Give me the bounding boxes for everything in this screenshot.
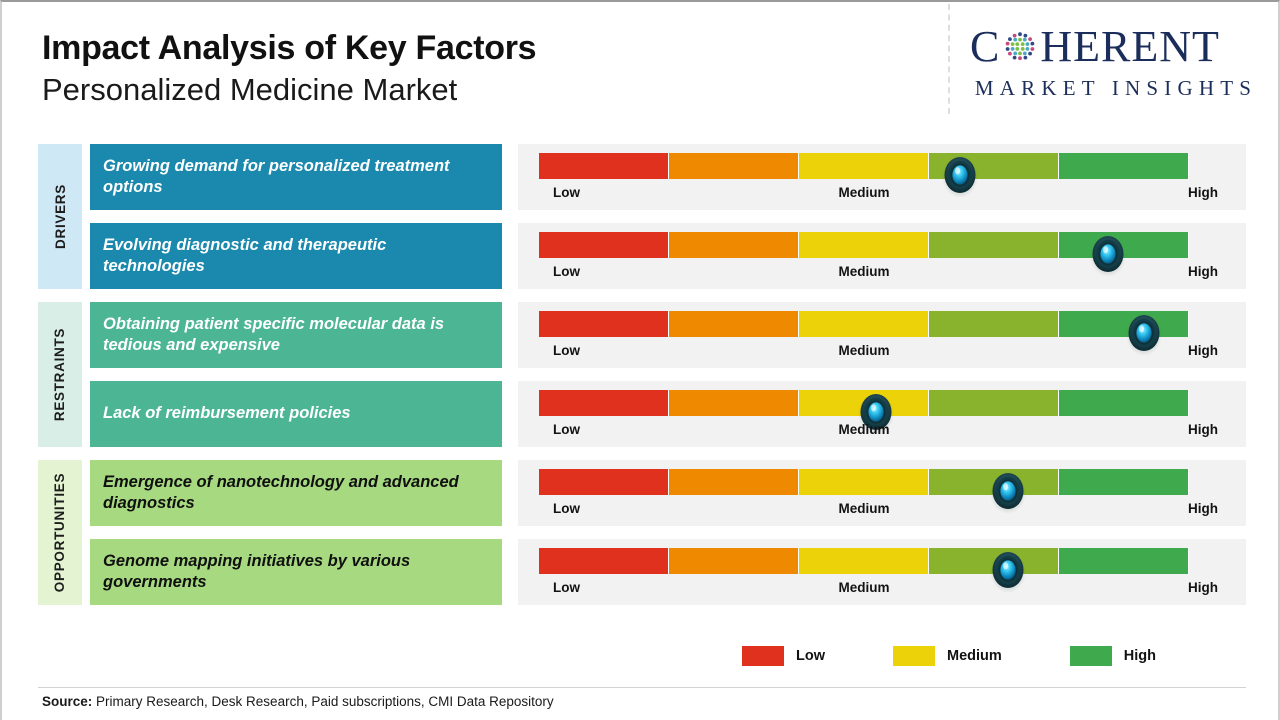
gauge-bar [539, 153, 1189, 179]
factor-label: Growing demand for personalized treatmen… [103, 156, 490, 199]
gauge-segment-4 [929, 153, 1059, 179]
impact-gauge: Low Medium High [518, 460, 1246, 526]
factor-label: Genome mapping initiatives by various go… [103, 551, 490, 594]
page-subtitle: Personalized Medicine Market [42, 73, 662, 108]
impact-matrix: DRIVERS RESTRAINTS OPPORTUNITIES Growing… [2, 144, 1280, 618]
scale-label-medium: Medium [838, 580, 889, 595]
factor-box[interactable]: Growing demand for personalized treatmen… [90, 144, 502, 210]
scale-label-high: High [1188, 422, 1218, 437]
matrix-row: Growing demand for personalized treatmen… [2, 144, 1280, 210]
gauge-segment-3 [799, 311, 929, 337]
globe-dots-icon [1001, 28, 1039, 66]
logo-letters-herent: HERENT [1040, 25, 1220, 69]
gauge-scale: Low Medium High [539, 264, 1189, 286]
header-divider [948, 4, 950, 114]
scale-label-high: High [1188, 580, 1218, 595]
scale-label-medium: Medium [838, 422, 889, 437]
header: Impact Analysis of Key Factors Personali… [42, 30, 662, 107]
scale-label-medium: Medium [838, 343, 889, 358]
gauge-segment-5 [1059, 390, 1189, 416]
gauge-bar [539, 390, 1189, 416]
legend-swatch-low [742, 646, 784, 666]
gauge-segment-1 [539, 311, 669, 337]
impact-gauge: Low Medium High [518, 381, 1246, 447]
gauge-segment-5 [1059, 469, 1189, 495]
gauge-segment-5 [1059, 153, 1189, 179]
logo-tagline: MARKET INSIGHTS [970, 76, 1262, 101]
gauge-segment-4 [929, 232, 1059, 258]
legend-item-low: Low [742, 646, 825, 666]
matrix-row: Evolving diagnostic and therapeutic tech… [2, 223, 1280, 289]
factor-box[interactable]: Genome mapping initiatives by various go… [90, 539, 502, 605]
scale-label-high: High [1188, 185, 1218, 200]
gauge-segment-2 [669, 232, 799, 258]
scale-label-low: Low [553, 264, 580, 279]
gauge-segment-4 [929, 548, 1059, 574]
factor-box[interactable]: Obtaining patient specific molecular dat… [90, 302, 502, 368]
scale-label-low: Low [553, 580, 580, 595]
legend-item-high: High [1070, 646, 1156, 666]
scale-label-high: High [1188, 343, 1218, 358]
impact-gauge: Low Medium High [518, 223, 1246, 289]
gauge-bar [539, 548, 1189, 574]
scale-label-medium: Medium [838, 185, 889, 200]
impact-gauge: Low Medium High [518, 302, 1246, 368]
scale-label-high: High [1188, 264, 1218, 279]
gauge-segment-3 [799, 390, 929, 416]
legend-label-high: High [1124, 648, 1156, 664]
gauge-segment-4 [929, 311, 1059, 337]
factor-box[interactable]: Emergence of nanotechnology and advanced… [90, 460, 502, 526]
brand-logo: C [970, 24, 1266, 101]
impact-gauge: Low Medium High [518, 144, 1246, 210]
gauge-scale: Low Medium High [539, 422, 1189, 444]
gauge-segment-1 [539, 153, 669, 179]
legend-item-medium: Medium [893, 646, 1002, 666]
scale-label-low: Low [553, 501, 580, 516]
source-label: Source: [42, 694, 92, 709]
page-title: Impact Analysis of Key Factors [42, 30, 662, 67]
slide-frame: Impact Analysis of Key Factors Personali… [0, 0, 1280, 720]
scale-label-medium: Medium [838, 264, 889, 279]
gauge-bar [539, 232, 1189, 258]
gauge-scale: Low Medium High [539, 185, 1189, 207]
gauge-segment-1 [539, 548, 669, 574]
factor-box[interactable]: Lack of reimbursement policies [90, 381, 502, 447]
legend-label-medium: Medium [947, 648, 1002, 664]
scale-label-high: High [1188, 501, 1218, 516]
gauge-segment-3 [799, 469, 929, 495]
logo-wordmark: C [970, 24, 1266, 70]
gauge-segment-3 [799, 153, 929, 179]
gauge-segment-1 [539, 232, 669, 258]
legend-swatch-medium [893, 646, 935, 666]
gauge-bar [539, 469, 1189, 495]
gauge-segment-2 [669, 548, 799, 574]
gauge-segment-5 [1059, 548, 1189, 574]
gauge-segment-2 [669, 469, 799, 495]
gauge-segment-2 [669, 311, 799, 337]
factor-label: Obtaining patient specific molecular dat… [103, 314, 490, 357]
legend: Low Medium High [742, 646, 1202, 666]
scale-label-low: Low [553, 422, 580, 437]
gauge-segment-3 [799, 232, 929, 258]
impact-gauge: Low Medium High [518, 539, 1246, 605]
scale-label-medium: Medium [838, 501, 889, 516]
matrix-row: Obtaining patient specific molecular dat… [2, 302, 1280, 368]
gauge-scale: Low Medium High [539, 580, 1189, 602]
legend-label-low: Low [796, 648, 825, 664]
gauge-segment-4 [929, 390, 1059, 416]
gauge-segment-4 [929, 469, 1059, 495]
legend-swatch-high [1070, 646, 1112, 666]
source-text: Primary Research, Desk Research, Paid su… [92, 694, 553, 709]
gauge-segment-2 [669, 153, 799, 179]
scale-label-low: Low [553, 343, 580, 358]
matrix-row: Lack of reimbursement policies [2, 381, 1280, 447]
scale-label-low: Low [553, 185, 580, 200]
gauge-scale: Low Medium High [539, 501, 1189, 523]
factor-label: Emergence of nanotechnology and advanced… [103, 472, 490, 515]
gauge-segment-3 [799, 548, 929, 574]
source-note: Source: Primary Research, Desk Research,… [42, 694, 554, 709]
gauge-segment-5 [1059, 311, 1189, 337]
gauge-segment-5 [1059, 232, 1189, 258]
factor-label: Evolving diagnostic and therapeutic tech… [103, 235, 490, 278]
matrix-row: Emergence of nanotechnology and advanced… [2, 460, 1280, 526]
factor-box[interactable]: Evolving diagnostic and therapeutic tech… [90, 223, 502, 289]
footer-divider [38, 687, 1246, 688]
gauge-scale: Low Medium High [539, 343, 1189, 365]
gauge-segment-2 [669, 390, 799, 416]
gauge-bar [539, 311, 1189, 337]
matrix-row: Genome mapping initiatives by various go… [2, 539, 1280, 605]
factor-label: Lack of reimbursement policies [103, 403, 351, 424]
gauge-segment-1 [539, 390, 669, 416]
gauge-segment-1 [539, 469, 669, 495]
logo-letter-c: C [970, 25, 1000, 69]
